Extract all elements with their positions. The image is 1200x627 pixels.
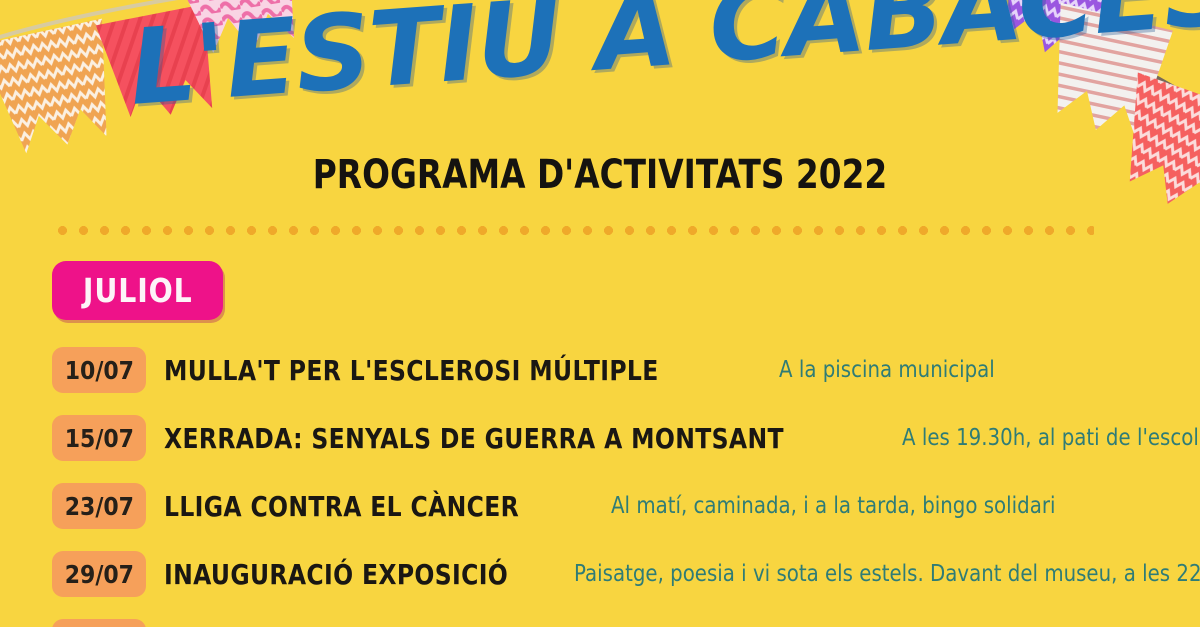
event-date-badge: 23/07: [52, 483, 146, 529]
title-block: L'ESTIU A CABACÉS: [0, 6, 1200, 156]
event-date-label: 10/07: [64, 356, 133, 385]
page-subtitle: PROGRAMA D'ACTIVITATS 2022: [108, 152, 1092, 198]
event-description: A la piscina municipal: [779, 357, 995, 383]
event-date-badge: [52, 619, 146, 627]
month-badge: JULIOL: [52, 261, 223, 320]
event-row[interactable]: 23/07 LLIGA CONTRA EL CÀNCER Al matí, ca…: [52, 483, 1182, 529]
event-title: XERRADA: SENYALS DE GUERRA A MONTSANT: [164, 422, 784, 455]
event-description: Al matí, caminada, i a la tarda, bingo s…: [611, 493, 1055, 519]
event-list: 10/07 MULLA'T PER L'ESCLEROSI MÚLTIPLE A…: [52, 347, 1182, 627]
event-title: MULLA'T PER L'ESCLEROSI MÚLTIPLE: [164, 354, 659, 387]
poster-canvas: L'ESTIU A CABACÉS PROGRAMA D'ACTIVITATS …: [0, 0, 1200, 627]
event-title: LLIGA CONTRA EL CÀNCER: [164, 490, 519, 523]
event-description: A les 19.30h, al pati de l'escola: [902, 425, 1200, 451]
event-row[interactable]: 29/07 INAUGURACIÓ EXPOSICIÓ Paisatge, po…: [52, 551, 1182, 597]
event-date-label: 29/07: [64, 560, 133, 589]
event-row[interactable]: 10/07 MULLA'T PER L'ESCLEROSI MÚLTIPLE A…: [52, 347, 1182, 393]
event-date-badge: 15/07: [52, 415, 146, 461]
event-date-badge: 29/07: [52, 551, 146, 597]
dotted-divider: [52, 226, 1094, 235]
page-title: L'ESTIU A CABACÉS: [126, 0, 1031, 120]
event-row[interactable]: 15/07 XERRADA: SENYALS DE GUERRA A MONTS…: [52, 415, 1182, 461]
event-row[interactable]: [52, 619, 1182, 627]
event-date-label: 15/07: [64, 424, 133, 453]
event-date-label: 23/07: [64, 492, 133, 521]
event-date-badge: 10/07: [52, 347, 146, 393]
event-description: Paisatge, poesia i vi sota els estels. D…: [574, 561, 1200, 587]
event-title: INAUGURACIÓ EXPOSICIÓ: [164, 558, 508, 591]
month-badge-label: JULIOL: [83, 271, 193, 310]
